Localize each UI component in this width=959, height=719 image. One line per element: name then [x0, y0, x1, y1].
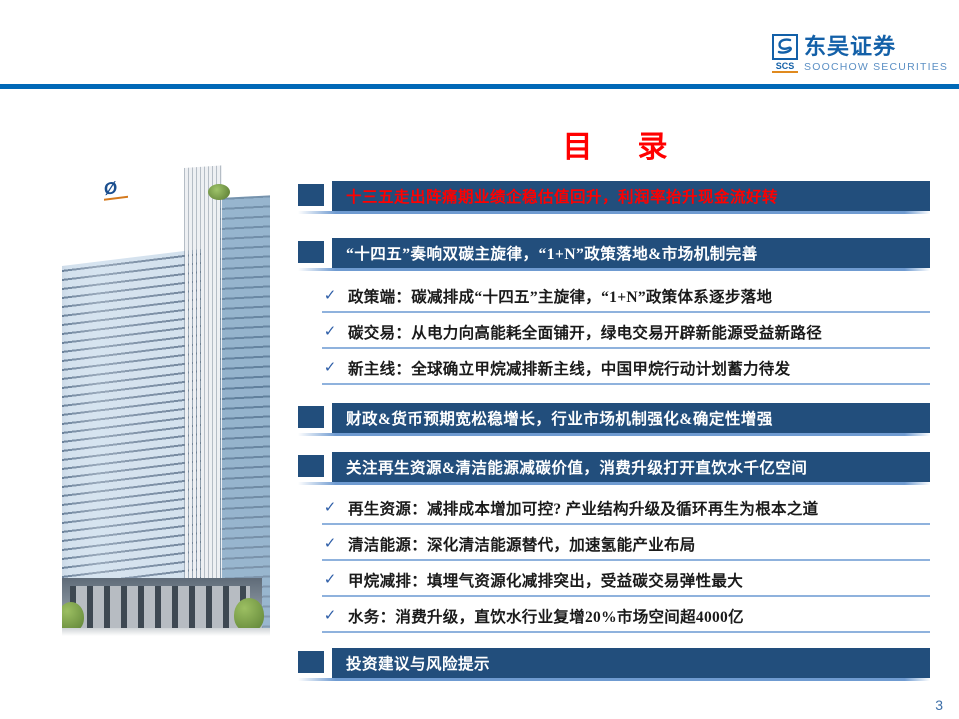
table-of-contents: 十三五走出阵痛期业绩企稳估值回升，利润率抬升现金流好转“十四五”奏响双碳主旋律，… — [0, 0, 959, 719]
toc-section-bar[interactable]: “十四五”奏响双碳主旋律，“1+N”政策落地&市场机制完善 — [298, 238, 930, 272]
toc-bullet-underline — [322, 631, 930, 633]
square-bullet-icon — [298, 455, 324, 477]
toc-section-label: 投资建议与风险提示 — [332, 652, 490, 674]
toc-bullet-underline — [322, 347, 930, 349]
checkmark-icon: ✓ — [322, 536, 338, 552]
toc-bullet-item[interactable]: ✓再生资源：减排成本增加可控? 产业结构升级及循环再生为根本之道 — [322, 495, 930, 527]
toc-section-bar[interactable]: 关注再生资源&清洁能源减碳价值，消费升级打开直饮水千亿空间 — [298, 452, 930, 486]
toc-bullet-item[interactable]: ✓甲烷减排：填埋气资源化减排突出，受益碳交易弹性最大 — [322, 567, 930, 599]
toc-bullet-underline — [322, 311, 930, 313]
square-bullet-icon — [298, 406, 324, 428]
toc-bullet-item[interactable]: ✓清洁能源：深化清洁能源替代，加速氢能产业布局 — [322, 531, 930, 563]
toc-section-label: 关注再生资源&清洁能源减碳价值，消费升级打开直饮水千亿空间 — [332, 456, 807, 478]
toc-section-bar-body[interactable]: 财政&货币预期宽松稳增长，行业市场机制强化&确定性增强 — [332, 403, 930, 433]
toc-section-label: 财政&货币预期宽松稳增长，行业市场机制强化&确定性增强 — [332, 407, 773, 429]
toc-section-underline — [298, 678, 930, 681]
toc-section-bar-body[interactable]: 关注再生资源&清洁能源减碳价值，消费升级打开直饮水千亿空间 — [332, 452, 930, 482]
toc-bullet-underline — [322, 523, 930, 525]
toc-section-bar-body[interactable]: “十四五”奏响双碳主旋律，“1+N”政策落地&市场机制完善 — [332, 238, 930, 268]
toc-bullet-underline — [322, 559, 930, 561]
toc-section-bar[interactable]: 投资建议与风险提示 — [298, 648, 930, 682]
toc-bullet-item[interactable]: ✓水务：消费升级，直饮水行业复增20%市场空间超4000亿 — [322, 603, 930, 635]
toc-bullet-item[interactable]: ✓碳交易：从电力向高能耗全面铺开，绿电交易开辟新能源受益新路径 — [322, 319, 930, 351]
toc-section-underline — [298, 211, 930, 214]
page-number: 3 — [935, 697, 943, 713]
toc-section-label: “十四五”奏响双碳主旋律，“1+N”政策落地&市场机制完善 — [332, 242, 758, 264]
toc-section-bar-body[interactable]: 投资建议与风险提示 — [332, 648, 930, 678]
square-bullet-icon — [298, 241, 324, 263]
checkmark-icon: ✓ — [322, 324, 338, 340]
toc-bullet-label: 水务：消费升级，直饮水行业复增20%市场空间超4000亿 — [348, 605, 744, 627]
presentation-slide: 东吴证券 SCS SOOCHOW SECURITIES 目 录 Ø 十三五走出阵… — [0, 0, 959, 719]
toc-bullet-label: 再生资源：减排成本增加可控? 产业结构升级及循环再生为根本之道 — [348, 497, 818, 519]
toc-section-underline — [298, 433, 930, 436]
toc-bullet-label: 清洁能源：深化清洁能源替代，加速氢能产业布局 — [348, 533, 696, 555]
toc-bullet-item[interactable]: ✓政策端：碳减排成“十四五”主旋律，“1+N”政策体系逐步落地 — [322, 283, 930, 315]
square-bullet-icon — [298, 651, 324, 673]
toc-bullet-label: 新主线：全球确立甲烷减排新主线，中国甲烷行动计划蓄力待发 — [348, 357, 790, 379]
toc-section-bar[interactable]: 财政&货币预期宽松稳增长，行业市场机制强化&确定性增强 — [298, 403, 930, 437]
checkmark-icon: ✓ — [322, 572, 338, 588]
square-bullet-icon — [298, 184, 324, 206]
toc-section-bar-body[interactable]: 十三五走出阵痛期业绩企稳估值回升，利润率抬升现金流好转 — [332, 181, 930, 211]
checkmark-icon: ✓ — [322, 500, 338, 516]
toc-bullet-underline — [322, 383, 930, 385]
toc-bullet-label: 政策端：碳减排成“十四五”主旋律，“1+N”政策体系逐步落地 — [348, 285, 772, 307]
checkmark-icon: ✓ — [322, 608, 338, 624]
toc-section-underline — [298, 268, 930, 271]
toc-bullet-underline — [322, 595, 930, 597]
toc-bullet-item[interactable]: ✓新主线：全球确立甲烷减排新主线，中国甲烷行动计划蓄力待发 — [322, 355, 930, 387]
toc-bullet-label: 甲烷减排：填埋气资源化减排突出，受益碳交易弹性最大 — [348, 569, 743, 591]
toc-section-label: 十三五走出阵痛期业绩企稳估值回升，利润率抬升现金流好转 — [332, 185, 778, 207]
toc-section-underline — [298, 482, 930, 485]
checkmark-icon: ✓ — [322, 360, 338, 376]
toc-bullet-label: 碳交易：从电力向高能耗全面铺开，绿电交易开辟新能源受益新路径 — [348, 321, 822, 343]
toc-section-bar[interactable]: 十三五走出阵痛期业绩企稳估值回升，利润率抬升现金流好转 — [298, 181, 930, 215]
checkmark-icon: ✓ — [322, 288, 338, 304]
